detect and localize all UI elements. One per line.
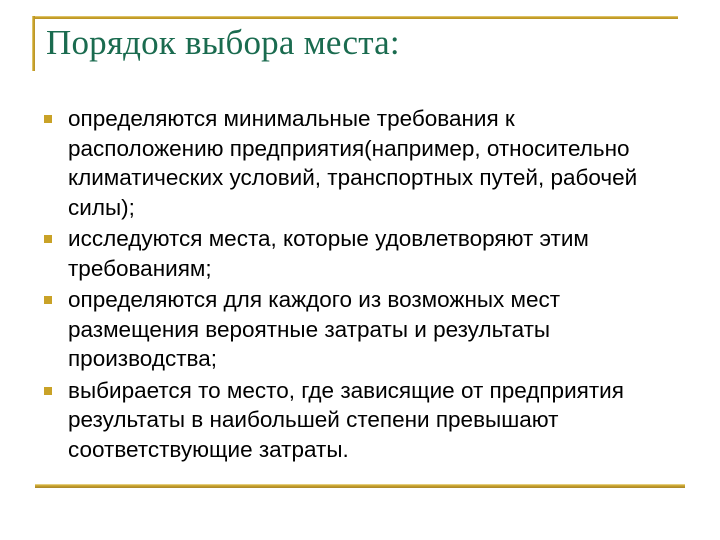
list-item: исследуются места, которые удовлетворяют… — [40, 224, 670, 283]
list-item: определяются для каждого из возможных ме… — [40, 285, 670, 374]
square-bullet-icon — [44, 235, 52, 243]
list-item-text: исследуются места, которые удовлетворяют… — [68, 224, 670, 283]
list-item-text: определяются минимальные требования к ра… — [68, 104, 670, 222]
list-item: определяются минимальные требования к ра… — [40, 104, 670, 222]
list-item-text: определяются для каждого из возможных ме… — [68, 285, 670, 374]
bullet-list: определяются минимальные требования к ра… — [40, 104, 670, 466]
square-bullet-icon — [44, 115, 52, 123]
left-gold-rule — [32, 16, 35, 71]
slide-title: Порядок выбора места: — [46, 22, 666, 64]
square-bullet-icon — [44, 387, 52, 395]
square-bullet-icon — [44, 296, 52, 304]
bottom-gold-rule — [35, 484, 685, 488]
list-item-text: выбирается то место, где зависящие от пр… — [68, 376, 670, 465]
slide-canvas: Порядок выбора места: определяются миним… — [0, 0, 720, 540]
list-item: выбирается то место, где зависящие от пр… — [40, 376, 670, 465]
top-gold-rule — [32, 16, 678, 19]
